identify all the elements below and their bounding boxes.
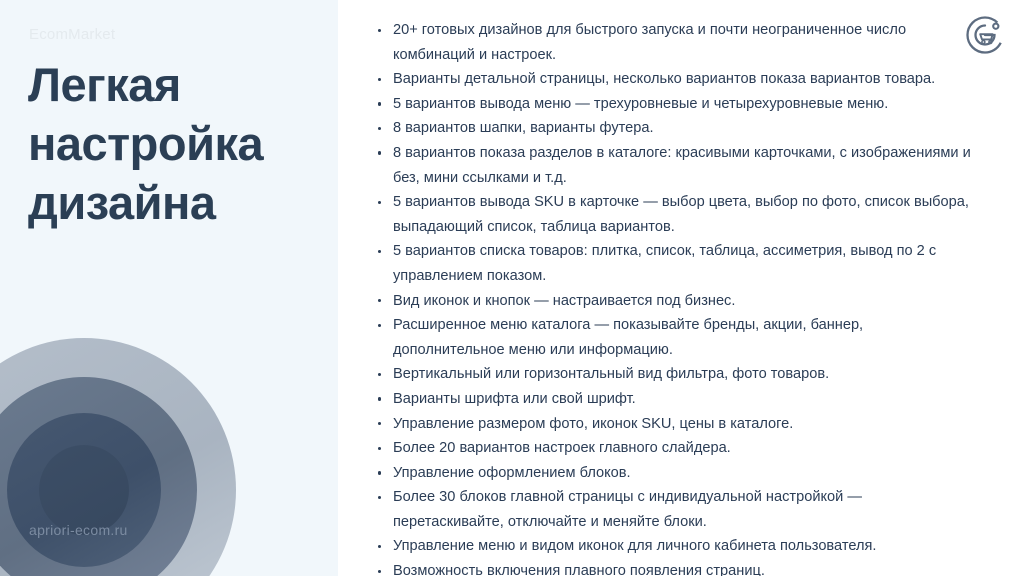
list-item: 8 вариантов шапки, варианты футера. — [376, 116, 976, 141]
list-item: 5 вариантов вывода SKU в карточке — выбо… — [376, 190, 976, 239]
left-panel: EcomMarket Легкая настройка дизайна apri… — [0, 0, 338, 576]
list-item: 5 вариантов списка товаров: плитка, спис… — [376, 239, 976, 288]
list-item: Возможность включения плавного появления… — [376, 559, 976, 576]
right-panel: 20+ готовых дизайнов для быстрого запуск… — [338, 0, 1024, 576]
site-url-label: apriori-ecom.ru — [29, 522, 128, 538]
feature-bullet-list: 20+ готовых дизайнов для быстрого запуск… — [376, 18, 976, 576]
list-item: 5 вариантов вывода меню — трехуровневые … — [376, 92, 976, 117]
list-item: 8 вариантов показа разделов в каталоге: … — [376, 141, 976, 190]
list-item: Вид иконок и кнопок — настраивается под … — [376, 289, 976, 314]
list-item: 20+ готовых дизайнов для быстрого запуск… — [376, 18, 976, 67]
list-item: Варианты шрифта или свой шрифт. — [376, 387, 976, 412]
list-item: Вертикальный или горизонтальный вид филь… — [376, 362, 976, 387]
list-item: Расширенное меню каталога — показывайте … — [376, 313, 976, 362]
list-item: Более 30 блоков главной страницы с индив… — [376, 485, 976, 534]
page-title: Легкая настройка дизайна — [28, 55, 328, 232]
list-item: Управление меню и видом иконок для лично… — [376, 534, 976, 559]
list-item: Более 20 вариантов настроек главного сла… — [376, 436, 976, 461]
brand-label: EcomMarket — [29, 26, 115, 43]
list-item: Управление оформлением блоков. — [376, 461, 976, 486]
list-item: Управление размером фото, иконок SKU, це… — [376, 412, 976, 437]
slide-canvas: EcomMarket Легкая настройка дизайна apri… — [0, 0, 1024, 576]
list-item: Варианты детальной страницы, несколько в… — [376, 67, 976, 92]
